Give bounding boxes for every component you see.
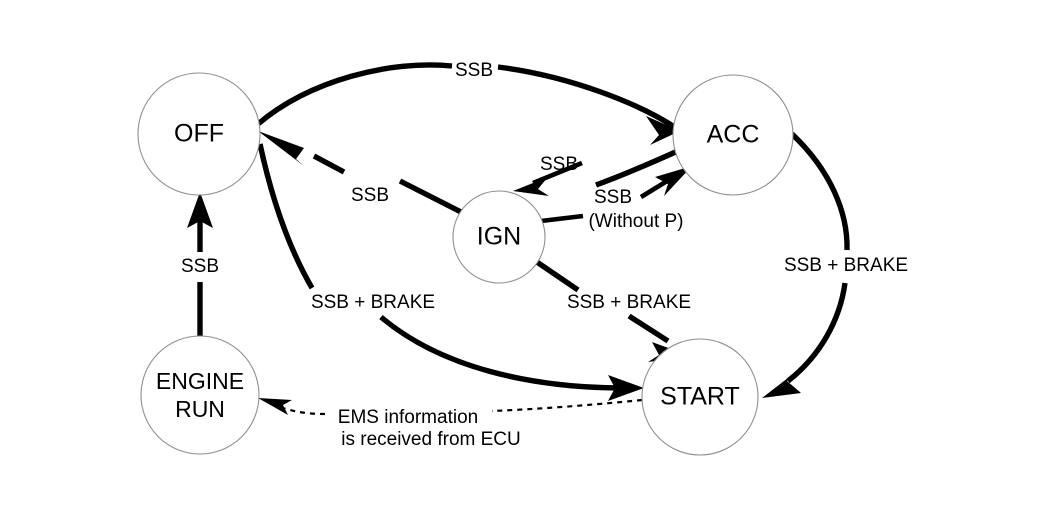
state-diagram-canvas: SSB SSB SSB (Without P) SSB bbox=[0, 0, 1050, 507]
edge-start-to-engine-run-path-left bbox=[283, 408, 325, 414]
edge-acc-to-start-path-lower bbox=[788, 283, 845, 381]
edge-start-to-engine-run-arrowhead bbox=[258, 398, 292, 415]
edge-start-to-engine-run-label-line2: is received from ECU bbox=[341, 429, 521, 450]
node-start-label: START bbox=[660, 383, 740, 411]
node-off[interactable]: OFF bbox=[138, 73, 260, 195]
edge-ign-to-start-path-upper bbox=[531, 258, 578, 290]
edge-acc-to-ign-label: SSB bbox=[540, 154, 578, 175]
edge-ign-to-acc-label: SSB bbox=[594, 187, 632, 208]
edge-off-to-start: SSB + BRAKE bbox=[260, 144, 644, 401]
edge-off-to-acc: SSB bbox=[258, 60, 680, 145]
edge-ign-to-start-label: SSB + BRAKE bbox=[567, 292, 691, 313]
edge-ign-to-start: SSB + BRAKE bbox=[531, 258, 691, 362]
edge-acc-to-ign-arrowhead bbox=[513, 177, 549, 196]
edge-ign-to-off-path-lower bbox=[400, 181, 463, 213]
edge-start-to-engine-run-path-right bbox=[492, 400, 642, 411]
node-ign[interactable]: IGN bbox=[453, 191, 545, 283]
edge-off-to-start-label: SSB + BRAKE bbox=[311, 292, 435, 313]
edge-off-to-acc-label: SSB bbox=[455, 60, 493, 81]
edge-ign-to-start-path-lower bbox=[629, 316, 668, 341]
edge-ign-to-off-label: SSB bbox=[351, 185, 389, 206]
edge-acc-to-start-label: SSB + BRAKE bbox=[784, 255, 908, 276]
node-acc-label: ACC bbox=[707, 121, 760, 149]
node-engine-run[interactable]: ENGINE RUN bbox=[141, 336, 259, 454]
edge-ign-to-acc-label-without-p: (Without P) bbox=[588, 211, 683, 232]
node-engine-run-circle[interactable] bbox=[141, 336, 259, 454]
node-engine-run-label-line2: RUN bbox=[175, 396, 225, 422]
edge-acc-to-start-path-upper bbox=[792, 134, 847, 250]
edge-engine-run-to-off-label: SSB bbox=[181, 256, 219, 277]
node-start[interactable]: START bbox=[642, 339, 758, 455]
edge-ign-to-off: SSB bbox=[258, 131, 463, 213]
node-off-label: OFF bbox=[174, 120, 224, 148]
edge-off-to-start-path-upper bbox=[260, 144, 312, 288]
node-acc[interactable]: ACC bbox=[673, 75, 793, 195]
node-engine-run-label-line1: ENGINE bbox=[156, 368, 244, 394]
edge-start-to-engine-run-label-line1: EMS information bbox=[338, 407, 478, 428]
state-machine-diagram: SSB SSB SSB (Without P) SSB bbox=[0, 0, 1050, 507]
edge-engine-run-to-off: SSB bbox=[181, 192, 219, 336]
edge-acc-to-start: SSB + BRAKE bbox=[762, 134, 908, 398]
node-ign-label: IGN bbox=[477, 223, 521, 251]
edge-ign-to-off-path-upper bbox=[314, 156, 344, 172]
edge-start-to-engine-run: EMS information is received from ECU bbox=[258, 398, 642, 450]
edge-ign-to-acc-path-left bbox=[541, 216, 583, 221]
edge-off-to-acc-path-left bbox=[258, 65, 452, 124]
edge-off-to-start-path-lower bbox=[381, 317, 624, 388]
